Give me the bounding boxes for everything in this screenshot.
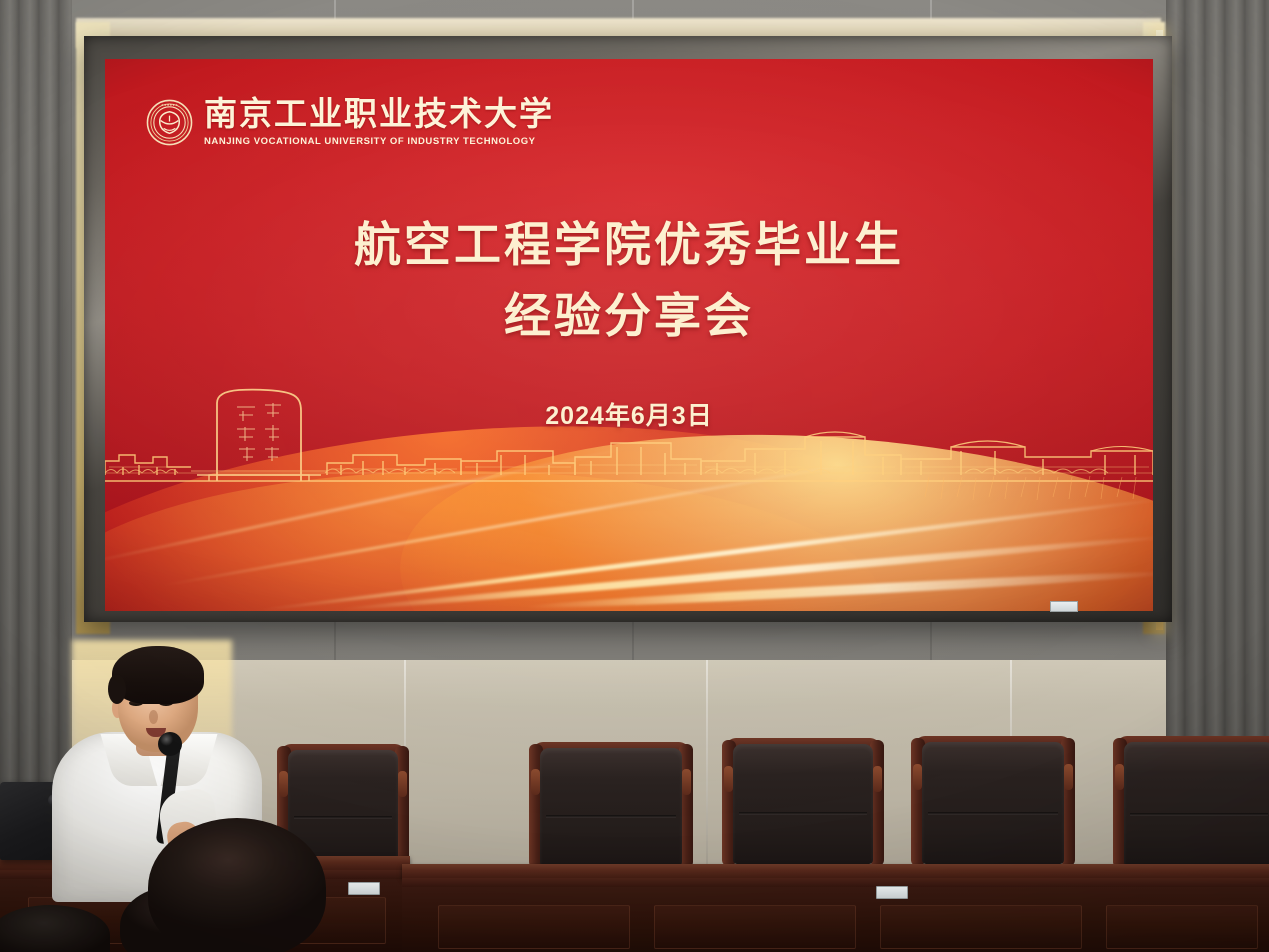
slide-title-block: 航空工程学院优秀毕业生 经验分享会 2024年6月3日 xyxy=(105,209,1153,432)
presentation-screen[interactable]: ★★★★★★ 南京工业职业技术大学 NANJING VOCATIONAL UNI… xyxy=(105,59,1153,611)
slide-date: 2024年6月3日 xyxy=(105,396,1153,432)
university-logo: ★★★★★★ 南京工业职业技术大学 NANJING VOCATIONAL UNI… xyxy=(146,99,554,147)
audience-head-foreground xyxy=(148,818,326,952)
conference-room-photo: ★★★★★★ 南京工业职业技术大学 NANJING VOCATIONAL UNI… xyxy=(0,0,1269,952)
conference-chair-3[interactable] xyxy=(733,744,873,864)
microphone-head xyxy=(158,732,182,756)
desk-tag-2 xyxy=(876,886,908,899)
conference-chair-2[interactable] xyxy=(540,748,682,866)
logo-chinese-name: 南京工业职业技术大学 xyxy=(204,99,554,132)
logo-english-name: NANJING VOCATIONAL UNIVERSITY OF INDUSTR… xyxy=(204,137,554,147)
led-screen-frame: ★★★★★★ 南京工业职业技术大学 NANJING VOCATIONAL UNI… xyxy=(84,36,1172,622)
conference-desk-right xyxy=(402,864,1269,952)
desk-tag-1 xyxy=(348,882,380,895)
screen-corner-label xyxy=(1050,601,1078,612)
conference-chair-4[interactable] xyxy=(922,742,1064,864)
university-seal-emblem: ★★★★★★ xyxy=(146,99,193,146)
slide-title-line-2: 经验分享会 xyxy=(105,280,1153,351)
conference-chair-5[interactable] xyxy=(1124,742,1269,866)
svg-text:★★★★★★: ★★★★★★ xyxy=(161,103,178,107)
slide-title-line-1: 航空工程学院优秀毕业生 xyxy=(105,209,1153,280)
